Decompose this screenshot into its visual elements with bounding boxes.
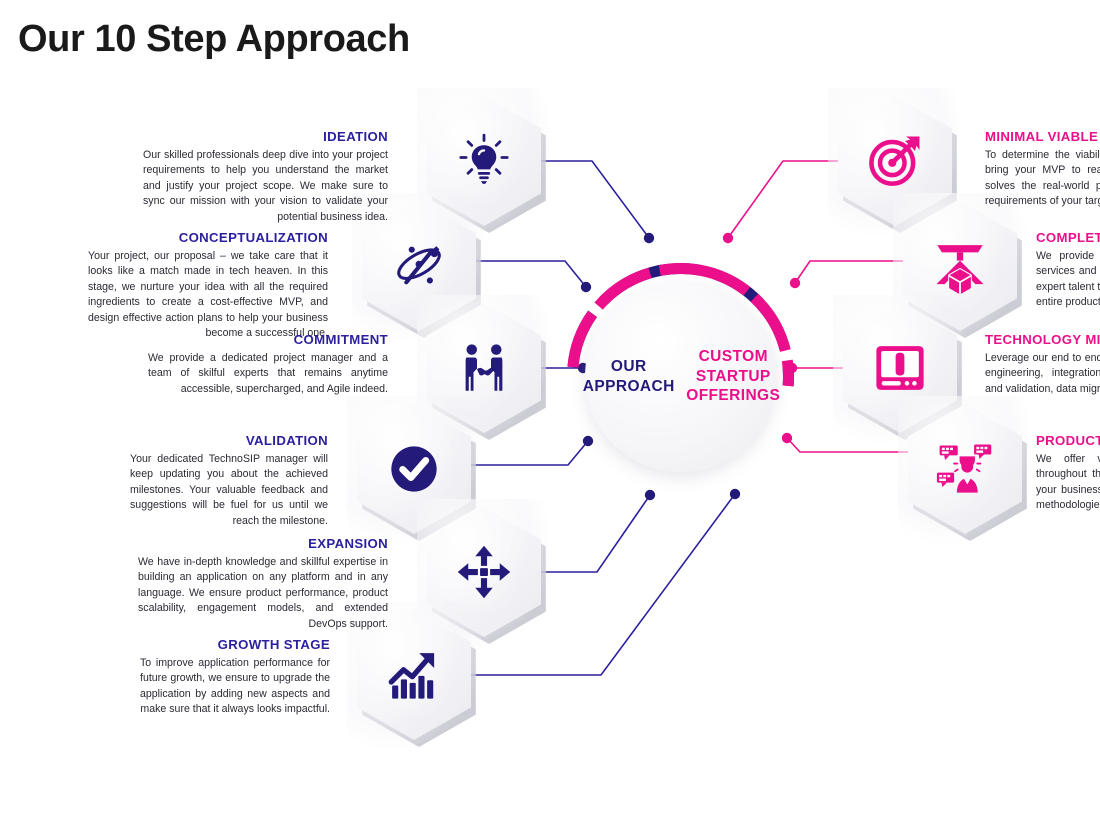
text-block-minimal-viable-product: MINIMAL VIABLE PRODUCT To determine the …: [985, 129, 1100, 210]
body-validation: Your dedicated TechnoSIP manager will ke…: [130, 452, 328, 529]
center-right-label: CUSTOM STARTUP OFFERINGS: [676, 262, 791, 491]
connector-complete-product: [795, 261, 913, 283]
heading-conceptualization: CONCEPTUALIZATION: [88, 230, 328, 246]
heading-complete-product: COMPLETE PRODUCT: [1036, 230, 1100, 246]
body-complete-product: We provide complete product engineering …: [1036, 249, 1100, 311]
support-agent-icon: [908, 404, 1022, 534]
body-conceptualization: Your project, our proposal – we take car…: [88, 249, 328, 342]
center-right-line1: CUSTOM: [699, 347, 768, 366]
body-expansion: We have in-depth knowledge and skillful …: [138, 555, 388, 632]
text-block-technology-migration: TECHNOLOGY MIGRATION Leverage our end to…: [985, 332, 1100, 397]
text-block-growth-stage: GROWTH STAGE To improve application perf…: [140, 637, 330, 718]
center-left-label: OUR APPROACH: [572, 262, 687, 491]
heading-product-support: PRODUCT SUPPORT: [1036, 433, 1100, 449]
center-left-line2: APPROACH: [583, 377, 675, 396]
heading-minimal-viable-product: MINIMAL VIABLE PRODUCT: [985, 129, 1100, 145]
body-product-support: We offer value-added product support thr…: [1036, 452, 1100, 514]
connector-dot: [644, 233, 654, 243]
body-minimal-viable-product: To determine the viability of your produ…: [985, 148, 1100, 210]
text-block-complete-product: COMPLETE PRODUCT We provide complete pro…: [1036, 230, 1100, 311]
heading-expansion: EXPANSION: [138, 536, 388, 552]
connector-mvp: [728, 161, 851, 238]
heading-ideation: IDEATION: [143, 129, 388, 145]
heading-validation: VALIDATION: [130, 433, 328, 449]
connector-product-support: [787, 438, 920, 452]
infographic-canvas: Our 10 Step Approach: [0, 0, 1100, 825]
body-growth-stage: To improve application performance for f…: [140, 656, 330, 718]
text-block-validation: VALIDATION Your dedicated TechnoSIP mana…: [130, 433, 328, 529]
text-block-conceptualization: CONCEPTUALIZATION Your project, our prop…: [88, 230, 328, 342]
body-ideation: Our skilled professionals deep dive into…: [143, 148, 388, 225]
text-block-product-support: PRODUCT SUPPORT We offer value-added pro…: [1036, 433, 1100, 514]
center-right-line2: STARTUP: [696, 367, 771, 386]
connector-dot: [645, 490, 655, 500]
hexagon-product-support[interactable]: [908, 404, 1022, 534]
body-technology-migration: Leverage our end to end expertise in sea…: [985, 351, 1100, 397]
center-left-line1: OUR: [611, 357, 647, 376]
body-commitment: We provide a dedicated project manager a…: [148, 351, 388, 397]
heading-growth-stage: GROWTH STAGE: [140, 637, 330, 653]
connector-dot: [723, 233, 733, 243]
center-circle: OUR APPROACH CUSTOM STARTUP OFFERINGS: [566, 262, 795, 491]
text-block-expansion: EXPANSION We have in-depth knowledge and…: [138, 536, 388, 632]
heading-commitment: COMMITMENT: [148, 332, 388, 348]
center-right-line3: OFFERINGS: [686, 386, 780, 405]
heading-technology-migration: TECHNOLOGY MIGRATION: [985, 332, 1100, 348]
text-block-commitment: COMMITMENT We provide a dedicated projec…: [148, 332, 388, 397]
text-block-ideation: IDEATION Our skilled professionals deep …: [143, 129, 388, 225]
